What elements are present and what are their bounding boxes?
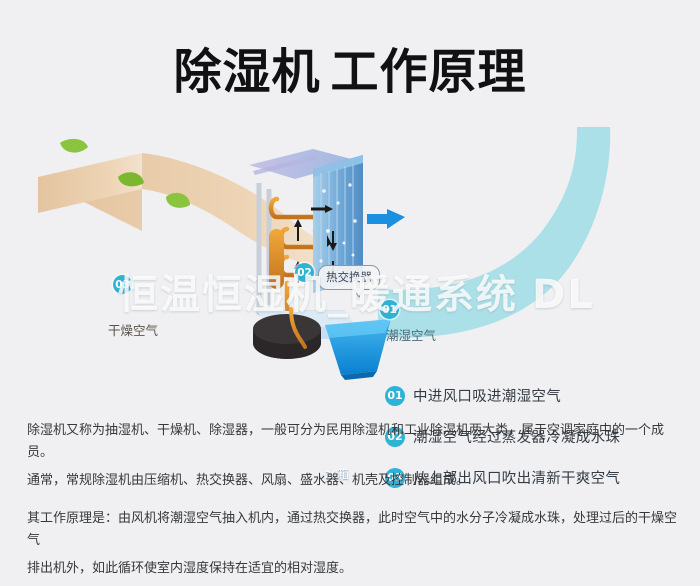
- body-paragraph-3: 其工作原理是：由风机将潮湿空气抽入机内，通过热交换器，此时空气中的水分子冷凝成水…: [27, 508, 677, 552]
- working-principle-diagram: 03 02 01 干燥空气 潮湿空气 水箱 热交换器 01 中进风口吸进潮湿空气…: [0, 115, 700, 405]
- diagram-badge-01: 01: [380, 300, 399, 319]
- accumulator-cylinder: [269, 229, 284, 289]
- step-badge-01: 01: [385, 386, 405, 406]
- water-tank: [325, 319, 391, 380]
- diagram-badge-02: 02: [295, 263, 314, 282]
- diagram-badge-03: 03: [113, 275, 132, 294]
- page-title-part2: 工作原理: [331, 44, 527, 100]
- incoming-air-arrow: [367, 209, 405, 229]
- label-dry-air: 干燥空气: [108, 320, 158, 339]
- compressor: [253, 314, 321, 359]
- step-text-01: 中进风口吸进潮湿空气: [413, 385, 561, 406]
- body-copy: 除湿机又称为抽湿机、干燥机、除湿器，一般可分为民用除湿机和工业除湿机两大类，属于…: [27, 420, 677, 586]
- paragraph-spacer: [27, 498, 677, 508]
- label-humid-air: 潮湿空气: [386, 325, 436, 344]
- callout-heat-exchanger: 热交换器: [318, 265, 380, 290]
- page-title: 除湿机工作原理: [0, 32, 700, 102]
- infographic-page: 除湿机工作原理: [0, 0, 700, 566]
- body-paragraph-1: 除湿机又称为抽湿机、干燥机、除湿器，一般可分为民用除湿机和工业除湿机两大类，属于…: [27, 420, 677, 464]
- body-paragraph-2: 通常，常规除湿机由压缩机、热交换器、风扇、盛水器、机壳及控制器组成。: [27, 470, 677, 492]
- page-title-part1: 除湿机: [173, 44, 320, 100]
- body-paragraph-4: 排出机外，如此循环使室内湿度保持在适宜的相对湿度。: [27, 558, 677, 580]
- list-item: 01 中进风口吸进潮湿空气: [385, 385, 695, 406]
